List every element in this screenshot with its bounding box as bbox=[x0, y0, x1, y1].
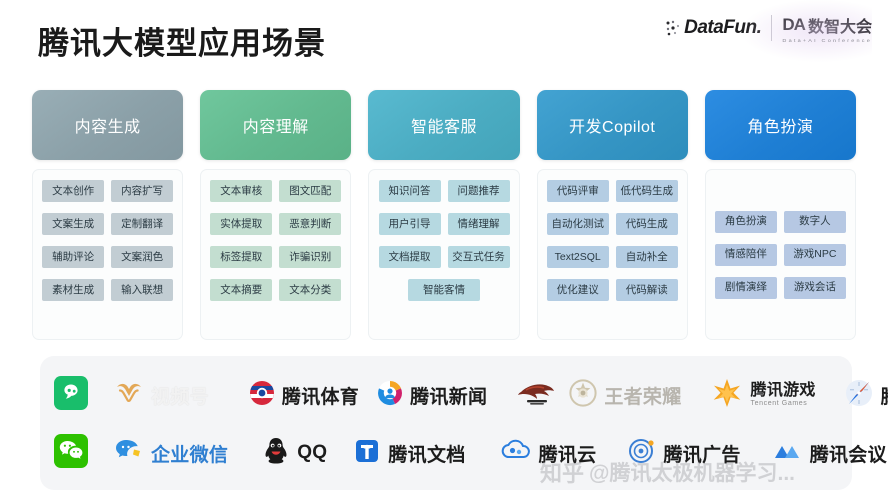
logo-row-2: 企业微信QQ腾讯文档腾讯云腾讯广告腾讯会议 bbox=[54, 425, 838, 481]
tag-row: 角色扮演数字人 bbox=[713, 211, 848, 233]
product-logo[interactable]: 腾讯云 bbox=[500, 439, 597, 468]
product-logo[interactable]: QQ bbox=[262, 436, 327, 471]
scenario-tag[interactable]: 游戏NPC bbox=[784, 244, 846, 266]
scenario-column: 开发Copilot代码评审低代码生成自动化测试代码生成Text2SQL自动补全优… bbox=[537, 90, 688, 340]
scenario-column: 智能客服知识问答问题推荐用户引导情绪理解文档提取交互式任务智能客情 bbox=[368, 90, 519, 340]
scenario-tag[interactable]: 实体提取 bbox=[210, 213, 272, 235]
scenario-tag[interactable]: 自动补全 bbox=[616, 246, 678, 268]
scenario-tag[interactable]: 图文匹配 bbox=[279, 180, 341, 202]
product-logo-name: 腾讯广告 bbox=[663, 440, 740, 467]
tencent-maps-icon bbox=[844, 378, 874, 413]
scenario-tag[interactable]: 剧情演绎 bbox=[715, 277, 777, 299]
tag-row: 优化建议代码解读 bbox=[545, 279, 680, 301]
tencent-docs-icon bbox=[353, 437, 381, 470]
tag-row: 剧情演绎游戏会话 bbox=[713, 277, 848, 299]
scenario-tag[interactable]: 文本创作 bbox=[42, 180, 104, 202]
tag-row: 自动化测试代码生成 bbox=[545, 213, 680, 235]
scenario-tag[interactable]: 辅助评论 bbox=[42, 246, 104, 268]
da-chinese-name: 数智大会 bbox=[808, 13, 872, 37]
slide-root: 腾讯大模型应用场景 DataFun. DA 数智 bbox=[0, 0, 888, 500]
product-logo[interactable]: 视频号 bbox=[114, 378, 209, 413]
da-conference-logo: DA 数智大会 Data+AI Conference bbox=[782, 13, 872, 44]
column-tag-list: 代码评审低代码生成自动化测试代码生成Text2SQL自动补全优化建议代码解读 bbox=[537, 169, 688, 340]
scenario-tag[interactable]: 标签提取 bbox=[210, 246, 272, 268]
scenario-tag[interactable]: 交互式任务 bbox=[448, 246, 510, 268]
scenario-tag[interactable]: 低代码生成 bbox=[616, 180, 678, 202]
product-logo[interactable] bbox=[54, 434, 88, 473]
honor-of-kings-icon bbox=[569, 379, 597, 412]
product-logo[interactable]: 王者荣耀 bbox=[569, 379, 681, 412]
scenario-tag[interactable]: 文本审核 bbox=[210, 180, 272, 202]
scenario-tag[interactable]: 优化建议 bbox=[547, 279, 609, 301]
scenario-tag[interactable]: 定制翻译 bbox=[111, 213, 173, 235]
product-logo-name: 王者荣耀 bbox=[604, 382, 681, 409]
scenario-tag[interactable]: 诈骗识别 bbox=[279, 246, 341, 268]
scenario-tag[interactable]: 代码评审 bbox=[547, 180, 609, 202]
product-logo[interactable]: 腾讯地图 bbox=[844, 378, 888, 413]
tag-row: 智能客情 bbox=[376, 279, 511, 301]
brand-lockup: DataFun. DA 数智大会 Data+AI Conference bbox=[665, 10, 872, 46]
scenario-tag[interactable]: 情绪理解 bbox=[448, 213, 510, 235]
product-logo-name: QQ bbox=[297, 442, 327, 464]
product-logo-subtitle: Tencent Games bbox=[751, 400, 816, 407]
product-logo[interactable] bbox=[517, 378, 557, 413]
product-logo-name: 腾讯云 bbox=[539, 440, 597, 467]
scenario-tag[interactable]: 问题推荐 bbox=[448, 180, 510, 202]
scenario-tag[interactable]: 自动化测试 bbox=[547, 213, 609, 235]
product-logo[interactable]: 腾讯新闻 bbox=[377, 380, 487, 411]
wechat-channels-icon bbox=[54, 376, 88, 415]
product-logo-panel: 视频号腾讯体育腾讯新闻王者荣耀腾讯游戏Tencent Games腾讯地图 企业微… bbox=[40, 356, 852, 490]
esports-icon bbox=[517, 378, 557, 413]
product-logo[interactable]: 腾讯体育 bbox=[249, 380, 359, 411]
slide-header: 腾讯大模型应用场景 DataFun. DA 数智 bbox=[0, 0, 888, 78]
column-header[interactable]: 智能客服 bbox=[368, 90, 519, 160]
scenario-tag[interactable]: 用户引导 bbox=[379, 213, 441, 235]
da-subtitle: Data+AI Conference bbox=[782, 38, 872, 43]
column-tag-list: 知识问答问题推荐用户引导情绪理解文档提取交互式任务智能客情 bbox=[368, 169, 519, 340]
tag-row: 代码评审低代码生成 bbox=[545, 180, 680, 202]
product-logo[interactable]: 腾讯会议 bbox=[771, 438, 887, 469]
tag-row: 文本摘要文本分类 bbox=[208, 279, 343, 301]
column-tag-list: 文本创作内容扩写文案生成定制翻译辅助评论文案润色素材生成输入联想 bbox=[32, 169, 183, 340]
scenario-tag[interactable]: 文本分类 bbox=[279, 279, 341, 301]
tag-row: 标签提取诈骗识别 bbox=[208, 246, 343, 268]
column-tag-list: 角色扮演数字人情感陪伴游戏NPC剧情演绎游戏会话 bbox=[705, 169, 856, 340]
datafun-logo: DataFun. bbox=[665, 17, 761, 39]
scenario-column: 内容生成文本创作内容扩写文案生成定制翻译辅助评论文案润色素材生成输入联想 bbox=[32, 90, 183, 340]
wecom-icon bbox=[114, 437, 144, 470]
scenario-tag[interactable]: 内容扩写 bbox=[111, 180, 173, 202]
product-logo-name: 腾讯文档 bbox=[388, 440, 465, 467]
tencent-news-icon bbox=[377, 380, 403, 411]
scenario-tag[interactable]: 游戏会话 bbox=[784, 277, 846, 299]
column-header[interactable]: 内容理解 bbox=[200, 90, 351, 160]
column-header[interactable]: 内容生成 bbox=[32, 90, 183, 160]
scenario-column: 内容理解文本审核图文匹配实体提取恶意判断标签提取诈骗识别文本摘要文本分类 bbox=[200, 90, 351, 340]
tag-row: Text2SQL自动补全 bbox=[545, 246, 680, 268]
product-logo[interactable]: 腾讯文档 bbox=[353, 437, 465, 470]
tag-row: 实体提取恶意判断 bbox=[208, 213, 343, 235]
tencent-cloud-icon bbox=[500, 439, 532, 468]
scenario-tag[interactable]: 代码解读 bbox=[616, 279, 678, 301]
tag-row: 文本创作内容扩写 bbox=[40, 180, 175, 202]
column-header[interactable]: 开发Copilot bbox=[537, 90, 688, 160]
scenario-tag[interactable]: 素材生成 bbox=[42, 279, 104, 301]
scenario-column: 角色扮演角色扮演数字人情感陪伴游戏NPC剧情演绎游戏会话 bbox=[705, 90, 856, 340]
scenario-tag[interactable]: 文案生成 bbox=[42, 213, 104, 235]
product-logo-name: 腾讯新闻 bbox=[410, 382, 487, 409]
tag-row: 素材生成输入联想 bbox=[40, 279, 175, 301]
product-logo[interactable]: 腾讯游戏Tencent Games bbox=[710, 377, 816, 414]
scenario-tag[interactable]: 文档提取 bbox=[379, 246, 441, 268]
qq-icon bbox=[262, 436, 290, 471]
page-title: 腾讯大模型应用场景 bbox=[38, 18, 326, 63]
scenario-tag[interactable]: 情感陪伴 bbox=[715, 244, 777, 266]
tag-row: 文本审核图文匹配 bbox=[208, 180, 343, 202]
product-logo-name: 企业微信 bbox=[151, 440, 228, 467]
scenario-tag[interactable]: Text2SQL bbox=[547, 246, 609, 268]
scenario-tag[interactable]: 恶意判断 bbox=[279, 213, 341, 235]
channels-wave-icon bbox=[114, 378, 144, 413]
scenario-columns: 内容生成文本创作内容扩写文案生成定制翻译辅助评论文案润色素材生成输入联想内容理解… bbox=[32, 90, 856, 340]
brand-divider bbox=[771, 15, 772, 41]
column-tag-list: 文本审核图文匹配实体提取恶意判断标签提取诈骗识别文本摘要文本分类 bbox=[200, 169, 351, 340]
datafun-wordmark: DataFun. bbox=[684, 17, 761, 39]
scenario-tag[interactable]: 代码生成 bbox=[616, 213, 678, 235]
logo-row-1: 视频号腾讯体育腾讯新闻王者荣耀腾讯游戏Tencent Games腾讯地图 bbox=[54, 367, 838, 423]
tag-row: 文档提取交互式任务 bbox=[376, 246, 511, 268]
tencent-sports-icon bbox=[249, 380, 275, 411]
scenario-tag[interactable]: 数字人 bbox=[784, 211, 846, 233]
tencent-games-icon bbox=[710, 377, 744, 414]
product-logo[interactable]: 企业微信 bbox=[114, 437, 228, 470]
da-monogram: DA bbox=[782, 15, 805, 35]
scenario-tag[interactable]: 文本摘要 bbox=[210, 279, 272, 301]
scenario-tag[interactable]: 角色扮演 bbox=[715, 211, 777, 233]
scenario-tag[interactable]: 智能客情 bbox=[408, 279, 480, 301]
scenario-tag[interactable]: 知识问答 bbox=[379, 180, 441, 202]
product-logo-name: 腾讯体育 bbox=[282, 382, 359, 409]
scenario-tag[interactable]: 文案润色 bbox=[111, 246, 173, 268]
product-logo-name: 腾讯游戏 bbox=[751, 383, 816, 400]
tag-row: 知识问答问题推荐 bbox=[376, 180, 511, 202]
tencent-ads-icon bbox=[626, 437, 656, 470]
tag-row: 文案生成定制翻译 bbox=[40, 213, 175, 235]
product-logo-name: 腾讯会议 bbox=[810, 440, 887, 467]
column-header[interactable]: 角色扮演 bbox=[705, 90, 856, 160]
tag-row: 辅助评论文案润色 bbox=[40, 246, 175, 268]
tag-row: 用户引导情绪理解 bbox=[376, 213, 511, 235]
scenario-tag[interactable]: 输入联想 bbox=[111, 279, 173, 301]
datafun-dots-icon bbox=[665, 19, 681, 37]
product-logo[interactable] bbox=[54, 376, 88, 415]
product-logo[interactable]: 腾讯广告 bbox=[626, 437, 740, 470]
tencent-meeting-icon bbox=[771, 438, 803, 469]
product-logo-name: 视频号 bbox=[151, 382, 209, 409]
wechat-icon bbox=[54, 434, 88, 473]
tag-row: 情感陪伴游戏NPC bbox=[713, 244, 848, 266]
product-logo-name: 腾讯地图 bbox=[881, 382, 888, 409]
